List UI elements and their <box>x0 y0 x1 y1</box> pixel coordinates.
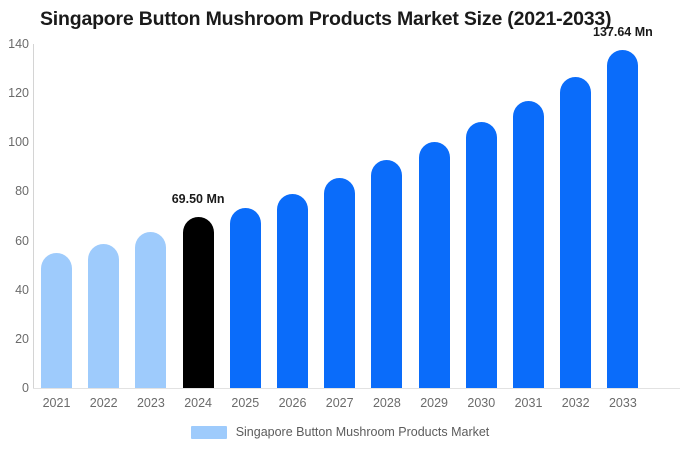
x-axis-tick-2022: 2022 <box>88 396 119 410</box>
bar-2029[interactable] <box>419 142 450 388</box>
bars-layer: 202120222023202469.50 Mn2025202620272028… <box>0 0 680 450</box>
data-label-2033: 137.64 Mn <box>593 25 653 39</box>
bar-chart: Singapore Button Mushroom Products Marke… <box>0 0 680 450</box>
bar-2023[interactable] <box>135 232 166 388</box>
x-axis-tick-2030: 2030 <box>466 396 497 410</box>
bar-2031[interactable] <box>513 101 544 388</box>
x-axis-tick-2028: 2028 <box>371 396 402 410</box>
x-axis-tick-2025: 2025 <box>230 396 261 410</box>
bar-2024[interactable] <box>183 217 214 388</box>
bar-2028[interactable] <box>371 160 402 388</box>
x-axis-tick-2027: 2027 <box>324 396 355 410</box>
x-axis-tick-2029: 2029 <box>419 396 450 410</box>
data-label-2024: 69.50 Mn <box>172 192 225 206</box>
x-axis-tick-2032: 2032 <box>560 396 591 410</box>
x-axis-tick-2033: 2033 <box>607 396 638 410</box>
legend-label: Singapore Button Mushroom Products Marke… <box>236 425 490 439</box>
bar-2027[interactable] <box>324 178 355 388</box>
x-axis-tick-2023: 2023 <box>135 396 166 410</box>
bar-2025[interactable] <box>230 208 261 388</box>
x-axis-tick-2026: 2026 <box>277 396 308 410</box>
bar-2032[interactable] <box>560 77 591 388</box>
chart-legend: Singapore Button Mushroom Products Marke… <box>0 425 680 439</box>
x-axis-tick-2024: 2024 <box>183 396 214 410</box>
bar-2033[interactable] <box>607 50 638 388</box>
x-axis-tick-2021: 2021 <box>41 396 72 410</box>
bar-2022[interactable] <box>88 244 119 388</box>
bar-2030[interactable] <box>466 122 497 388</box>
bar-2021[interactable] <box>41 253 72 388</box>
legend-swatch <box>191 426 227 439</box>
x-axis-tick-2031: 2031 <box>513 396 544 410</box>
bar-2026[interactable] <box>277 194 308 388</box>
